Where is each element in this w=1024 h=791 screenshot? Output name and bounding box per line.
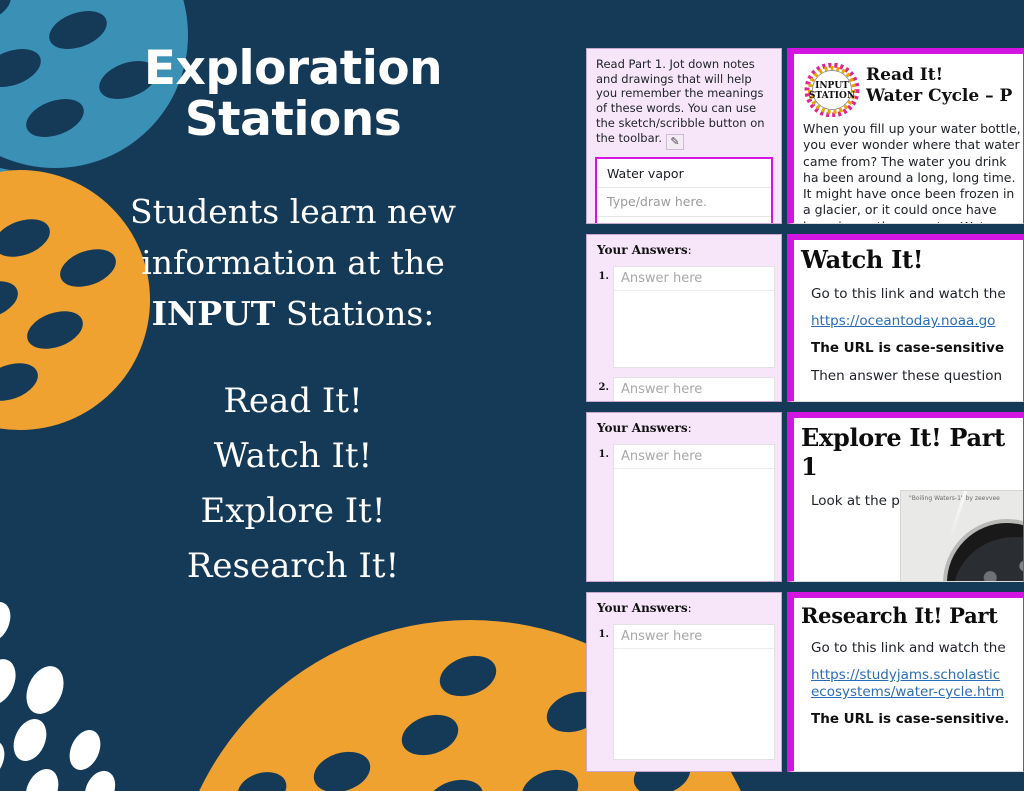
answer-row[interactable]: 1. Answer here xyxy=(595,624,775,760)
title-line-1: Exploration xyxy=(73,44,513,95)
explore-heading: Explore It! Part 1 xyxy=(794,418,1023,481)
answer-row[interactable]: 1. Answer here xyxy=(595,444,775,582)
vocab-term-label: Water vapor xyxy=(597,159,771,188)
subtitle-part-1: Students learn new information at the xyxy=(130,192,456,282)
answer-input[interactable]: Answer here xyxy=(613,377,775,402)
read-content-panel: INPUT STATION Read It! Water Cycle – P W… xyxy=(787,48,1024,224)
watch-answers-heading: Your Answers: xyxy=(587,235,781,257)
slide-subtitle: Students learn new information at the IN… xyxy=(83,186,503,340)
pot-icon xyxy=(943,519,1024,582)
vocab-term-input[interactable]: Type/draw here. xyxy=(597,188,771,217)
read-content-body: INPUT STATION Read It! Water Cycle – P W… xyxy=(794,54,1023,224)
watch-followup-line: Then answer these question xyxy=(794,356,1023,384)
svg-text:STATION: STATION xyxy=(809,91,855,101)
subtitle-part-2: Stations: xyxy=(275,294,434,333)
subtitle-emphasis: INPUT xyxy=(152,294,276,333)
answer-number: 2. xyxy=(595,377,613,393)
research-answers-label: Your Answers xyxy=(597,601,688,615)
read-body-text: When you fill up your water bottle, you … xyxy=(803,115,1023,224)
answer-input[interactable]: Answer here xyxy=(613,266,775,368)
research-heading: Research It! Part xyxy=(794,598,1023,628)
watch-answers-label: Your Answers xyxy=(597,243,688,257)
vocab-term-box[interactable]: Water vapor Type/draw here. xyxy=(595,157,773,224)
scribble-icon[interactable]: ✎ xyxy=(666,134,684,150)
boiling-water-surface xyxy=(953,537,1024,582)
answer-input[interactable]: Answer here xyxy=(613,624,775,760)
read-instructions: Read Part 1. Jot down notes and drawings… xyxy=(596,57,765,145)
answer-placeholder: Answer here xyxy=(614,378,774,402)
answer-input-area[interactable] xyxy=(614,291,774,367)
watch-answers-panel[interactable]: Your Answers: 1. Answer here 2. Answer h… xyxy=(586,234,782,402)
explore-answers-heading: Your Answers: xyxy=(587,413,781,435)
answer-placeholder: Answer here xyxy=(614,625,774,649)
page-title: Exploration Stations xyxy=(73,44,513,146)
station-list: Read It! Watch It! Explore It! Research … xyxy=(73,374,513,594)
research-case-note: The URL is case-sensitive. xyxy=(794,700,1023,727)
answer-row[interactable]: 1. Answer here xyxy=(595,266,775,368)
research-answers-heading: Your Answers: xyxy=(587,593,781,615)
explore-answers-panel[interactable]: Your Answers: 1. Answer here xyxy=(586,412,782,582)
screenshot-column: Read Part 1. Jot down notes and drawings… xyxy=(586,48,1024,782)
station-item-watch: Watch It! xyxy=(73,429,513,484)
watch-link[interactable]: https://oceantoday.noaa.go xyxy=(794,302,1023,329)
research-link-line-1[interactable]: https://studyjams.scholastic xyxy=(794,656,1023,683)
answer-input-area[interactable] xyxy=(614,649,774,759)
read-instructions-text: Read Part 1. Jot down notes and drawings… xyxy=(587,49,781,150)
research-answers-panel[interactable]: Your Answers: 1. Answer here xyxy=(586,592,782,772)
boiling-water-photo: "Boiling Waters-1" by zeevvee xyxy=(901,491,1024,582)
svg-text:INPUT: INPUT xyxy=(815,81,849,91)
answer-input[interactable]: Answer here xyxy=(613,444,775,582)
answer-input-area[interactable] xyxy=(614,469,774,581)
watch-heading: Watch It! xyxy=(794,240,1023,274)
screenshot-row-watch: Your Answers: 1. Answer here 2. Answer h… xyxy=(586,234,1024,402)
slide-canvas: Exploration Stations Students learn new … xyxy=(0,0,1024,791)
station-item-explore: Explore It! xyxy=(73,484,513,539)
station-item-read: Read It! xyxy=(73,374,513,429)
answer-placeholder: Answer here xyxy=(614,267,774,291)
watch-content-panel: Watch It! Go to this link and watch the … xyxy=(787,234,1024,402)
screenshot-row-research: Your Answers: 1. Answer here Research It… xyxy=(586,592,1024,772)
answer-number: 1. xyxy=(595,444,613,460)
explore-content-panel: Explore It! Part 1 Look at the picture b… xyxy=(787,412,1024,582)
station-item-research: Research It! xyxy=(73,539,513,594)
answer-number: 1. xyxy=(595,624,613,640)
watch-case-note: The URL is case-sensitive xyxy=(794,329,1023,356)
watch-instruction-line: Go to this link and watch the xyxy=(794,274,1023,302)
research-answers-colon: : xyxy=(688,601,692,615)
watch-answers-colon: : xyxy=(688,243,692,257)
research-instruction-line: Go to this link and watch the xyxy=(794,628,1023,656)
research-content-panel: Research It! Part Go to this link and wa… xyxy=(787,592,1024,772)
vocab-term-spacer xyxy=(597,217,771,224)
research-link-line-2[interactable]: ecosystems/water-cycle.htm xyxy=(794,683,1023,700)
title-line-2: Stations xyxy=(73,95,513,146)
input-station-badge: INPUT STATION xyxy=(803,63,858,113)
screenshot-row-explore: Your Answers: 1. Answer here Explore It!… xyxy=(586,412,1024,582)
screenshot-row-read: Read Part 1. Jot down notes and drawings… xyxy=(586,48,1024,224)
explore-answers-label: Your Answers xyxy=(597,421,688,435)
explore-answers-colon: : xyxy=(688,421,692,435)
answer-number: 1. xyxy=(595,266,613,282)
read-notes-panel[interactable]: Read Part 1. Jot down notes and drawings… xyxy=(586,48,782,224)
answer-placeholder: Answer here xyxy=(614,445,774,469)
answer-row[interactable]: 2. Answer here xyxy=(595,377,775,402)
slide-text-column: Exploration Stations Students learn new … xyxy=(0,0,586,791)
